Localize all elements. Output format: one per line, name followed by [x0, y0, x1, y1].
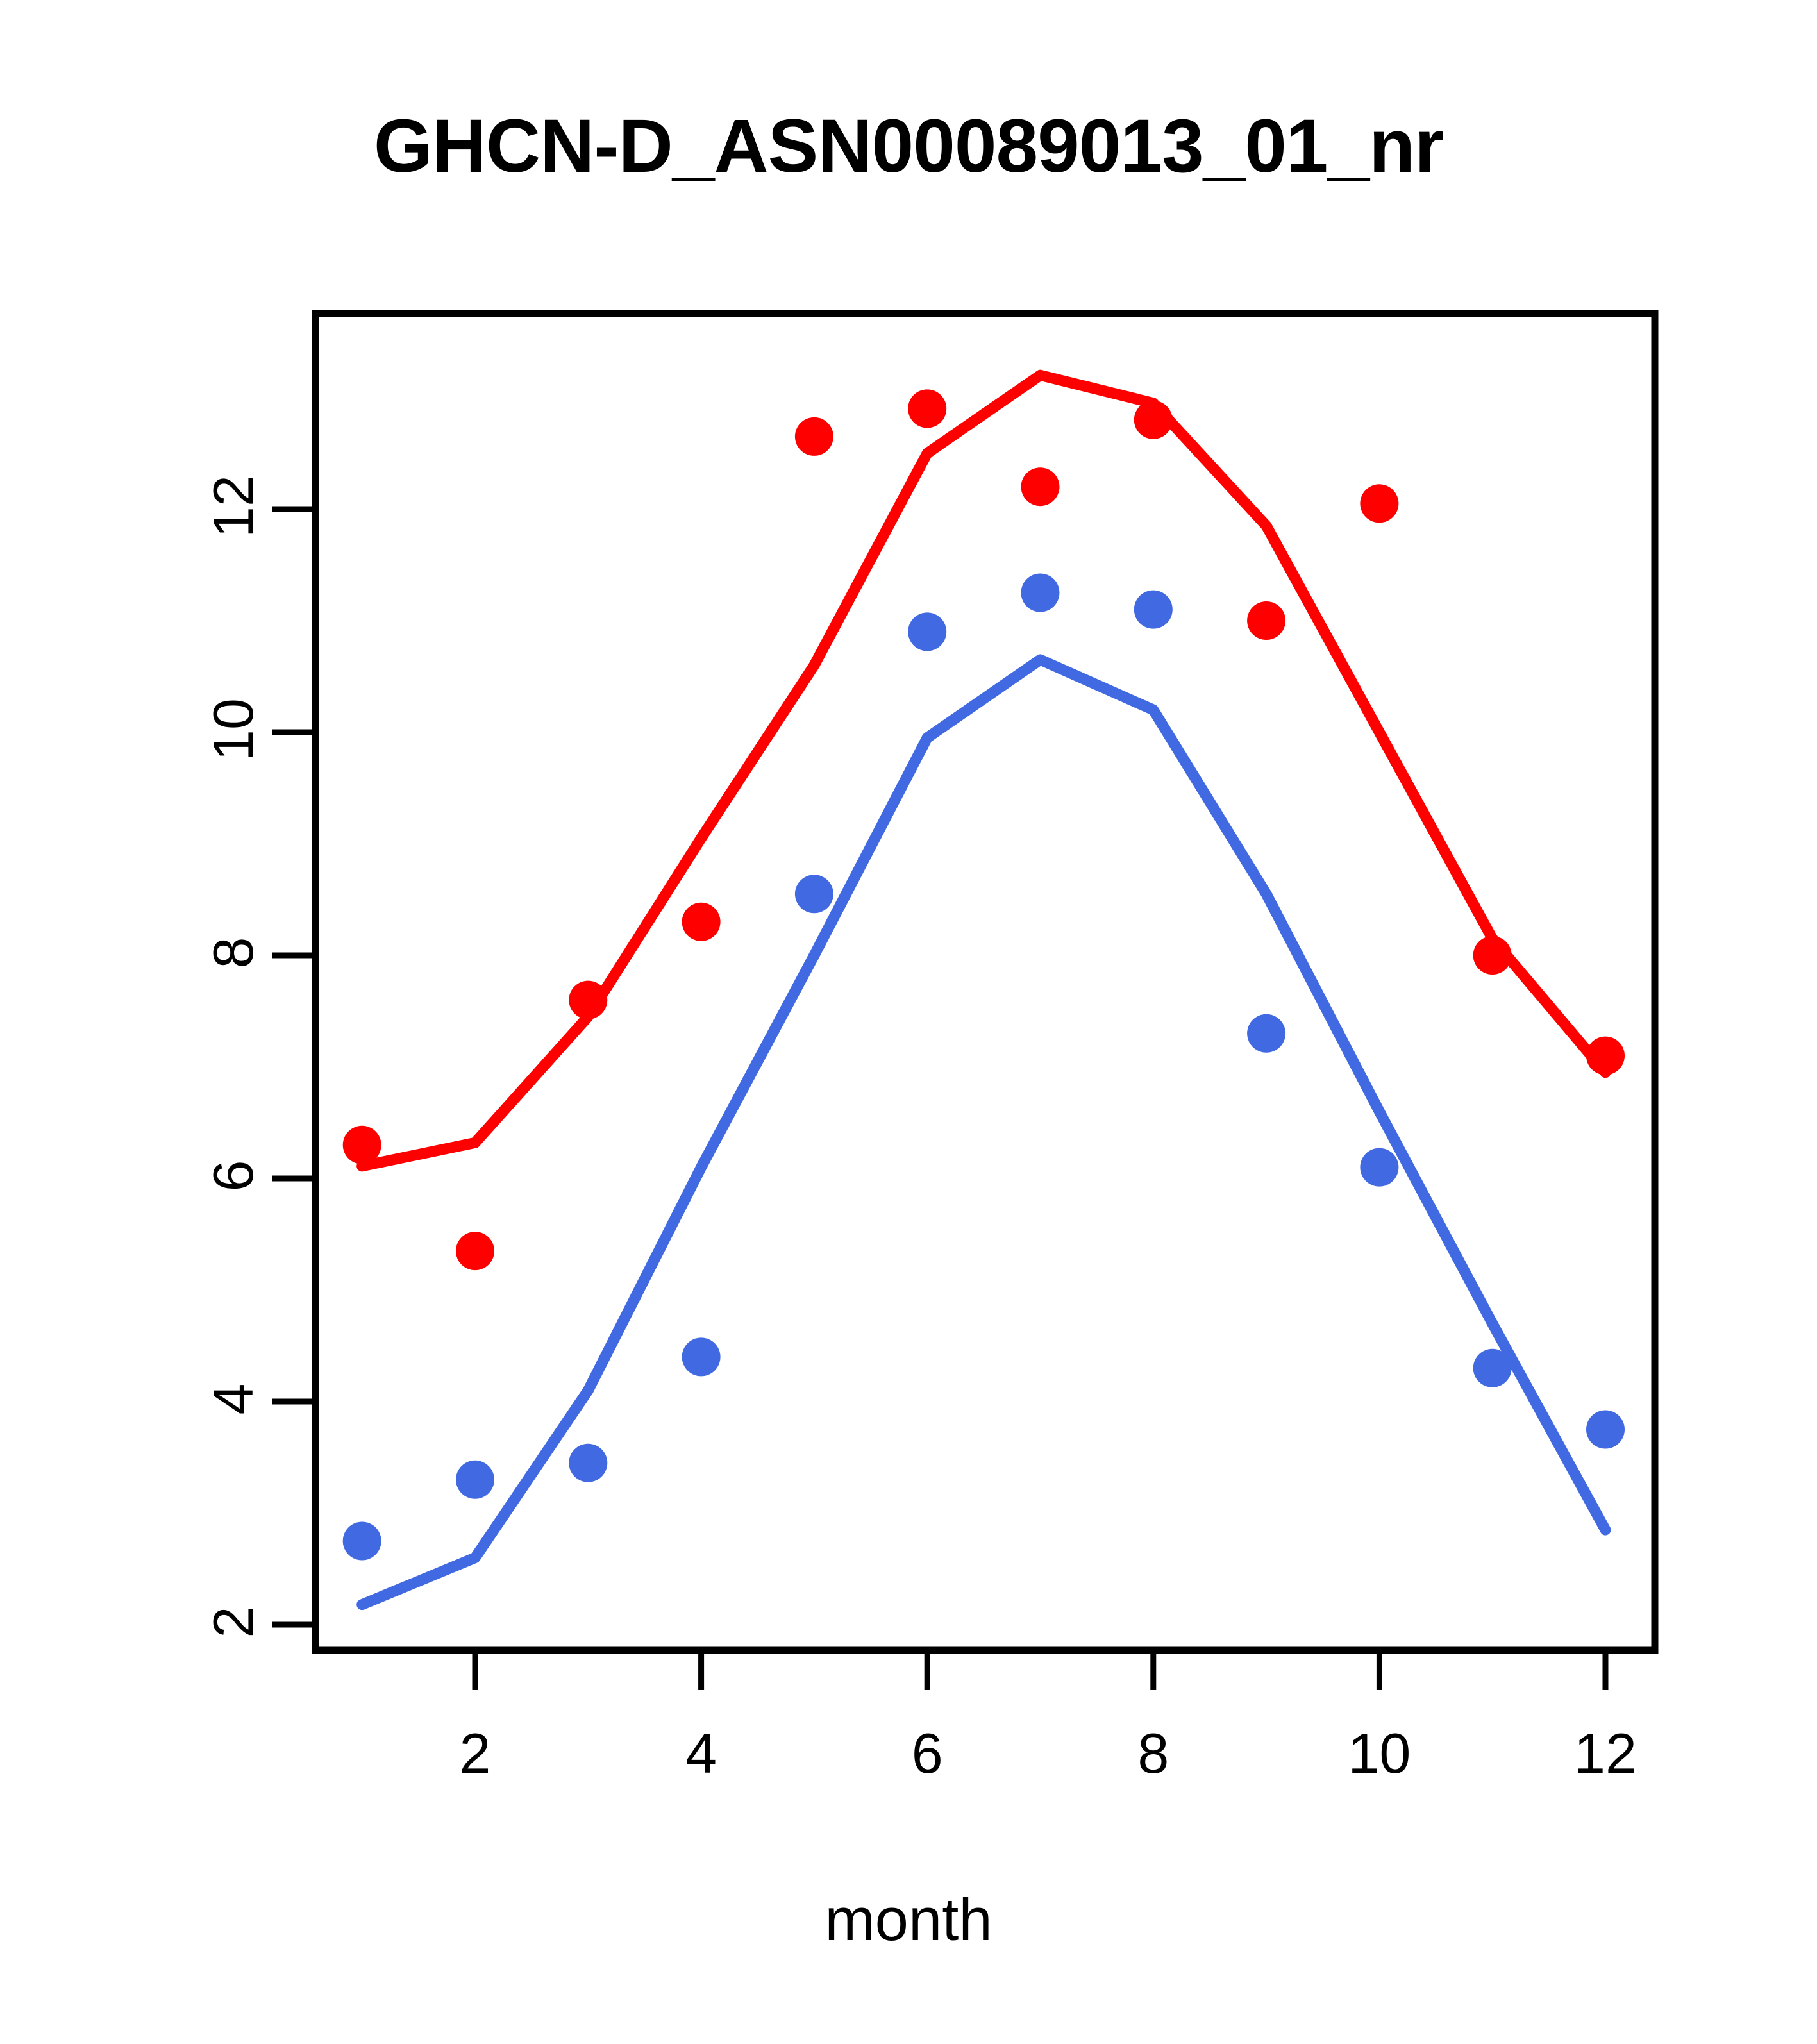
- y-tick-label: 6: [201, 1099, 266, 1253]
- x-tick-label: 2: [398, 1721, 552, 1786]
- chart-title: GHCN-D_ASN00089013_01_nr: [0, 103, 1817, 190]
- x-tick-label: 10: [1302, 1721, 1456, 1786]
- plot-area: [315, 314, 1655, 1650]
- y-tick-label: 12: [201, 430, 266, 583]
- y-tick-label: 8: [201, 876, 266, 1030]
- chart-figure: GHCN-D_ASN00089013_01_nr month 246810122…: [0, 0, 1817, 2044]
- y-tick-label: 2: [201, 1545, 266, 1699]
- y-tick-label: 10: [201, 653, 266, 807]
- plot-series: [315, 314, 1655, 1650]
- x-tick-label: 8: [1076, 1721, 1230, 1786]
- y-tick-label: 4: [201, 1322, 266, 1476]
- x-axis-title: month: [0, 1885, 1817, 1954]
- x-tick-label: 12: [1528, 1721, 1682, 1786]
- x-tick-label: 6: [850, 1721, 1004, 1786]
- x-tick-label: 4: [624, 1721, 778, 1786]
